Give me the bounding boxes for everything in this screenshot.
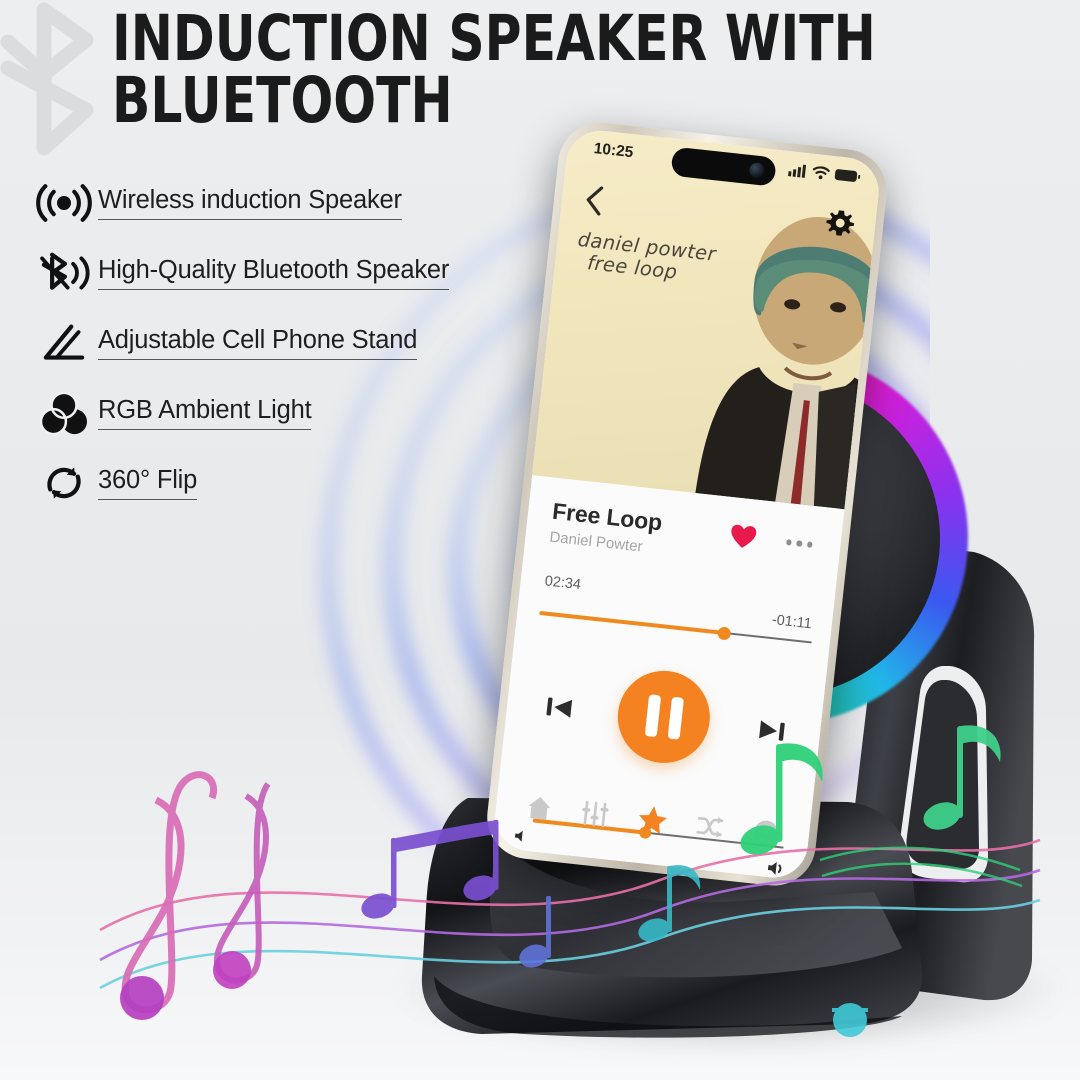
progress-knob[interactable] <box>717 626 731 640</box>
elapsed-time: 02:34 <box>544 573 582 593</box>
dynamic-island <box>670 147 777 187</box>
heart-filled-icon[interactable] <box>728 523 758 556</box>
status-icons <box>788 162 861 184</box>
battery-full-icon <box>834 167 861 184</box>
music-notes-decoration <box>60 720 1060 1060</box>
status-time: 10:25 <box>593 140 634 162</box>
product-marketing-image: INDUCTION SPEAKER WITH BLUETOOTH <box>0 0 1080 1080</box>
chevron-left-icon[interactable] <box>582 183 606 222</box>
cellular-signal-icon <box>788 162 808 178</box>
remaining-time: -01:11 <box>771 612 813 632</box>
product-render: Induction <box>0 0 1080 1080</box>
track-info: Free Loop Daniel Powter <box>549 498 823 575</box>
gear-icon[interactable] <box>823 208 857 246</box>
progress-fill <box>539 610 725 634</box>
wifi-icon <box>812 165 830 181</box>
